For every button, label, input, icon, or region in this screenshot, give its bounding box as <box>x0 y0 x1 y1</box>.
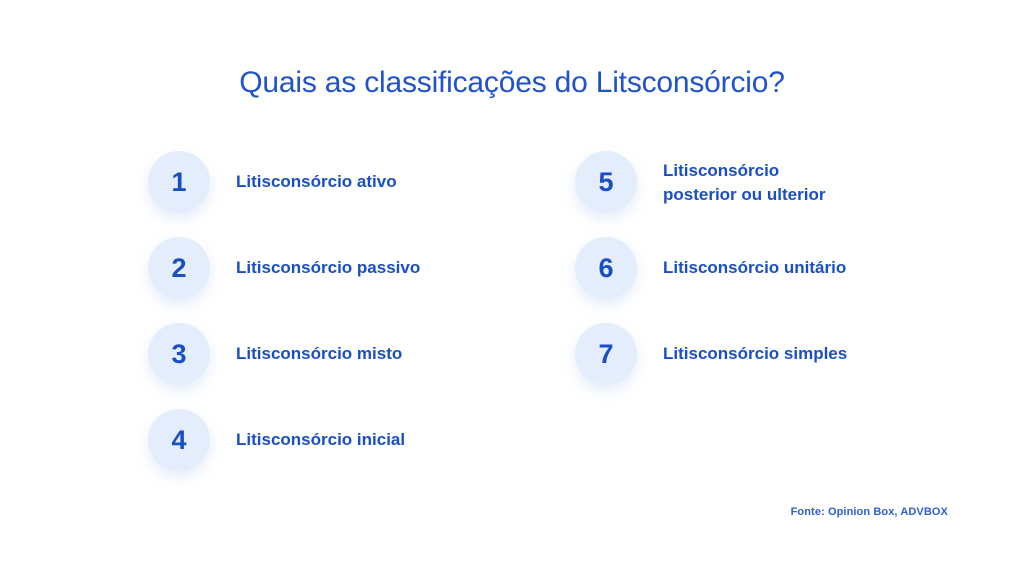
list-item: 6 Litisconsórcio unitário <box>575 237 847 323</box>
number-badge: 4 <box>148 409 210 471</box>
badge-number-label: 1 <box>171 169 186 196</box>
badge-number-label: 7 <box>598 341 613 368</box>
number-badge: 7 <box>575 323 637 385</box>
number-badge: 5 <box>575 151 637 213</box>
list-item: 7 Litisconsórcio simples <box>575 323 847 409</box>
number-badge: 2 <box>148 237 210 299</box>
number-badge: 6 <box>575 237 637 299</box>
list-item: 2 Litisconsórcio passivo <box>148 237 420 323</box>
list-item: 4 Litisconsórcio inicial <box>148 409 420 495</box>
list-item: 5 Litisconsórcio posterior ou ulterior <box>575 151 847 237</box>
list-item: 1 Litisconsórcio ativo <box>148 151 420 237</box>
list-item-label: Litisconsórcio inicial <box>236 409 420 452</box>
number-badge: 3 <box>148 323 210 385</box>
list-item-label: Litisconsórcio posterior ou ulterior <box>663 151 847 207</box>
number-badge: 1 <box>148 151 210 213</box>
source-attribution: Fonte: Opinion Box, ADVBOX <box>791 506 948 518</box>
badge-number-label: 4 <box>171 427 186 454</box>
classification-column-left: 1 Litisconsórcio ativo 2 Litisconsórcio … <box>148 151 420 495</box>
infographic-canvas: Quais as classificações do Litsconsórcio… <box>0 0 1024 567</box>
list-item-label: Litisconsórcio ativo <box>236 151 420 194</box>
list-item-label: Litisconsórcio misto <box>236 323 420 366</box>
list-item-label: Litisconsórcio passivo <box>236 237 420 280</box>
page-title: Quais as classificações do Litsconsórcio… <box>0 66 1024 100</box>
badge-number-label: 2 <box>171 255 186 282</box>
list-item: 3 Litisconsórcio misto <box>148 323 420 409</box>
list-item-label: Litisconsórcio unitário <box>663 237 847 280</box>
badge-number-label: 3 <box>171 341 186 368</box>
badge-number-label: 5 <box>598 169 613 196</box>
classification-column-right: 5 Litisconsórcio posterior ou ulterior 6… <box>575 151 847 409</box>
list-item-label: Litisconsórcio simples <box>663 323 847 366</box>
badge-number-label: 6 <box>598 255 613 282</box>
